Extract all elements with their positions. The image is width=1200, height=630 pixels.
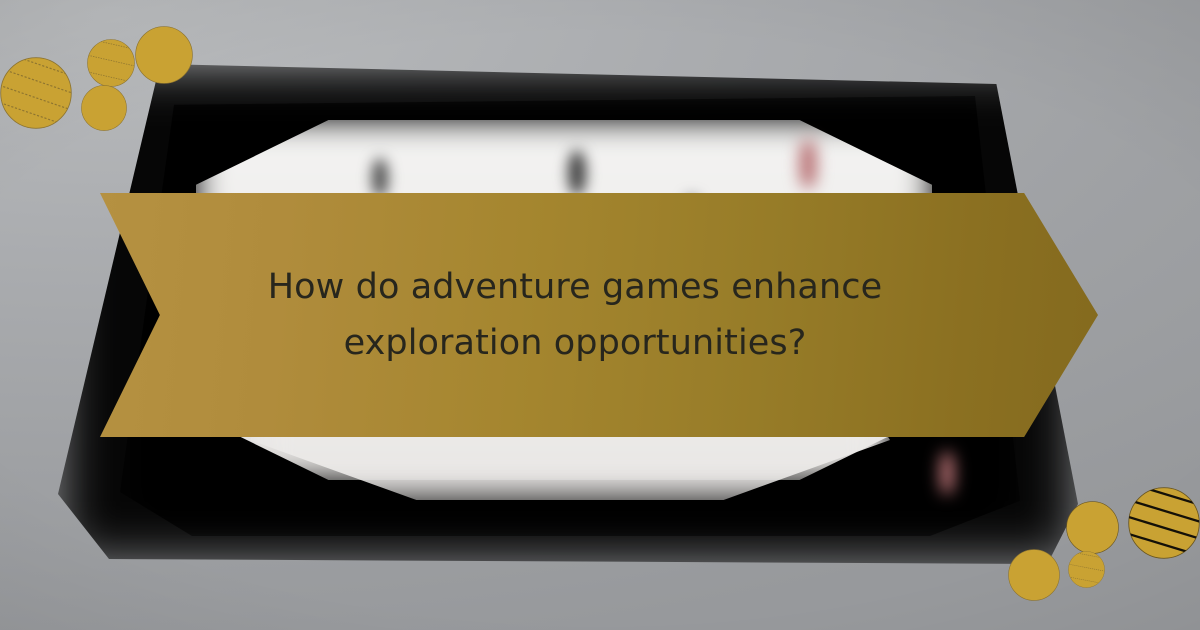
deco-circle-tl-large: [0, 57, 72, 129]
question-line-1: How do adventure games enhance: [225, 259, 925, 315]
deco-circle-tl-small: [81, 85, 127, 131]
question-banner: How do adventure games enhance explorati…: [100, 193, 1098, 437]
deco-circle-br-bottom: [1008, 549, 1060, 601]
deco-circle-tl-top: [135, 26, 193, 84]
deco-circle-tl-mid: [87, 39, 135, 87]
deco-circle-br-small: [1068, 551, 1105, 588]
question-text: How do adventure games enhance explorati…: [225, 259, 925, 371]
slide-canvas: How do adventure games enhance explorati…: [0, 0, 1200, 630]
question-line-2: exploration opportunities?: [225, 315, 925, 371]
deco-circle-br-large: [1128, 487, 1200, 559]
deco-circle-br-top: [1066, 501, 1119, 554]
